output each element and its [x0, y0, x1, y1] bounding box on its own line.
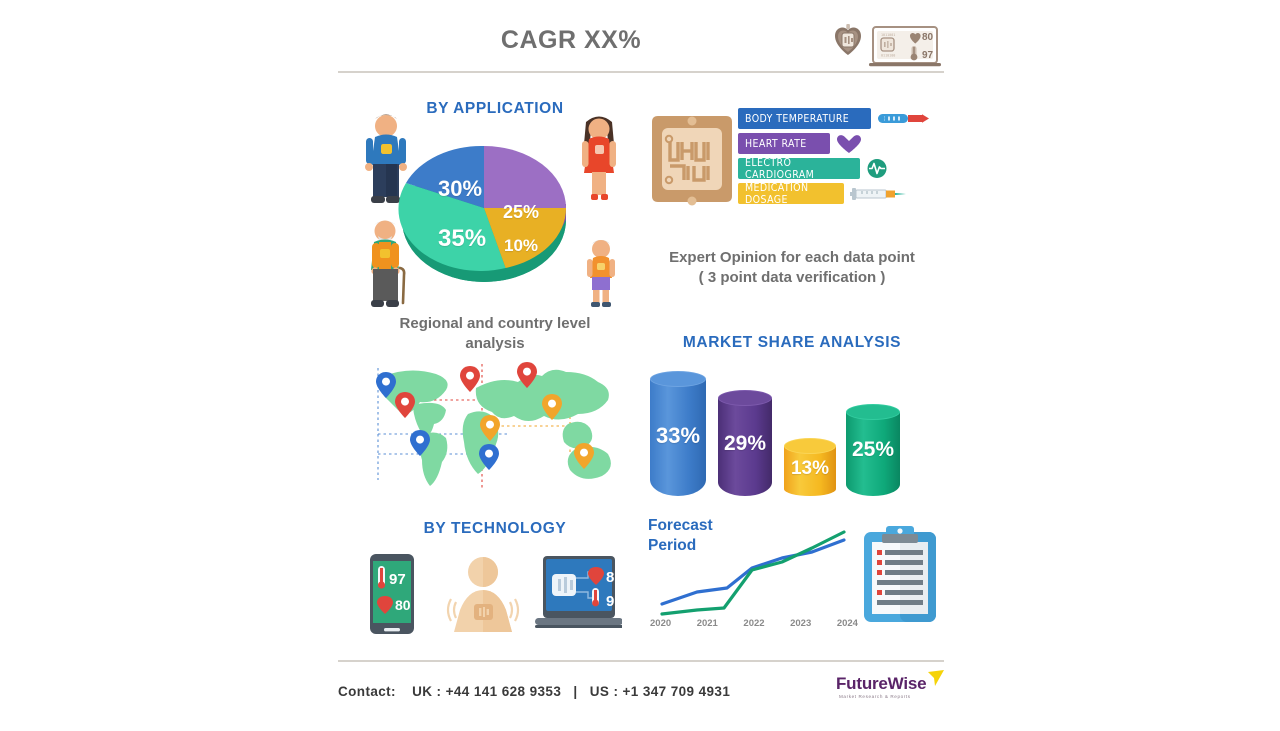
cylinder-bar-3: 13%	[784, 438, 836, 496]
market-share-cylinders: 33% 29% 13% 25%	[644, 364, 940, 496]
parameter-bar-heart-rate: HEART RATE	[738, 133, 830, 154]
contact-line: Contact: UK : +44 141 628 9353 | US : +1…	[338, 684, 730, 699]
forecast-line-chart	[652, 526, 852, 624]
footer-divider	[338, 660, 944, 662]
forecast-year-2020: 2020	[650, 618, 671, 629]
regional-title-line-2: analysis	[360, 334, 630, 354]
header-temp-value: 97	[922, 50, 934, 61]
section-forecast: Forecast Period 2020 2021 2022 2023 2024	[642, 508, 942, 648]
application-pie-chart: 30% 25% 10% 35%	[398, 120, 576, 300]
footer: Contact: UK : +44 141 628 9353 | US : +1…	[336, 660, 946, 720]
parameter-bar-body-temperature: BODY TEMPERATURE	[738, 108, 871, 129]
heart-icon	[836, 133, 862, 154]
parameter-list: BODY TEMPERATURE HEART RATE ELECTRO CARD…	[738, 108, 942, 210]
body-sensor-patch-icon	[448, 557, 518, 632]
forecast-series-1-line	[662, 540, 844, 604]
phone-temp-value: 97	[389, 571, 406, 588]
section-sensor-parameters: BODY TEMPERATURE HEART RATE ELECTRO CARD…	[642, 88, 942, 228]
smartphone-vitals-icon: 97 80	[370, 554, 414, 634]
header-icon-group: 1011001 0110100 80 97	[826, 20, 946, 72]
futurewise-logo[interactable]: FutureWise Market Research & Reports	[836, 672, 944, 708]
pie-label-30: 30%	[438, 176, 482, 202]
sensor-chip-icon	[648, 110, 736, 208]
expert-opinion-line-1: Expert Opinion for each data point	[642, 248, 942, 268]
cylinder-value-1: 33%	[650, 423, 706, 449]
adult-woman-figure	[576, 112, 622, 210]
pie-label-35: 35%	[438, 225, 486, 253]
cylinder-value-3: 13%	[784, 458, 836, 480]
forecast-year-2022: 2022	[743, 618, 764, 629]
infographic-page: CAGR XX% 1011001 0110100	[0, 0, 1280, 731]
contact-label: Contact:	[338, 684, 396, 699]
laptop-vitals-icon: 1011001 0110100 80 97	[869, 27, 941, 66]
market-share-title: MARKET SHARE ANALYSIS	[642, 334, 942, 352]
header: CAGR XX% 1011001 0110100	[336, 18, 946, 76]
section-market-share: MARKET SHARE ANALYSIS 33% 29% 13% 25%	[642, 306, 942, 506]
parameter-row-medication-dosage: MEDICATION DOSAGE	[738, 183, 942, 204]
svg-text:0110100: 0110100	[881, 54, 895, 58]
expert-opinion-text: Expert Opinion for each data point ( 3 p…	[642, 248, 942, 294]
forecast-series-2-line	[662, 532, 844, 614]
cylinder-bar-1: 33%	[650, 371, 706, 496]
section-regional-analysis: Regional and country level analysis	[350, 306, 640, 506]
laptop-temp-value: 97	[606, 593, 622, 610]
parameter-row-body-temperature: BODY TEMPERATURE	[738, 108, 942, 129]
parameter-row-electro-cardiogram: ELECTRO CARDIOGRAM	[738, 158, 942, 179]
clipboard-checklist-icon	[862, 524, 938, 624]
regional-title: Regional and country level analysis	[360, 314, 630, 354]
world-map	[372, 358, 620, 498]
cylinder-value-4: 25%	[846, 438, 900, 462]
forecast-year-2023: 2023	[790, 618, 811, 629]
svg-text:1011001: 1011001	[881, 33, 895, 37]
cylinder-bar-2: 29%	[718, 390, 772, 496]
expert-opinion-line-2: ( 3 point data verification )	[642, 268, 942, 288]
laptop-heart-value: 80	[606, 569, 622, 586]
forecast-year-axis: 2020 2021 2022 2023 2024	[650, 618, 858, 629]
pie-slice-25	[484, 146, 566, 208]
ecg-pulse-icon	[866, 158, 890, 179]
child-figure	[582, 236, 620, 310]
syringe-icon	[850, 183, 910, 204]
contact-us: US : +1 347 709 4931	[590, 684, 730, 699]
parameter-row-heart-rate: HEART RATE	[738, 133, 942, 154]
infographic-sheet: CAGR XX% 1011001 0110100	[336, 0, 946, 731]
logo-name: FutureWise	[836, 674, 926, 694]
logo-tagline: Market Research & Reports	[839, 694, 911, 699]
pie-label-10: 10%	[504, 236, 538, 256]
header-divider	[338, 71, 944, 73]
cylinder-bar-4: 25%	[846, 404, 900, 496]
forecast-year-2024: 2024	[837, 618, 858, 629]
pie-label-25: 25%	[503, 202, 539, 223]
cylinder-value-2: 29%	[718, 432, 772, 456]
parameter-bar-electro-cardiogram: ELECTRO CARDIOGRAM	[738, 158, 860, 179]
thermometer-icon	[878, 108, 930, 129]
contact-separator: |	[573, 684, 577, 699]
section-by-application: BY APPLICATION	[350, 88, 640, 313]
parameter-bar-medication-dosage: MEDICATION DOSAGE	[738, 183, 844, 204]
logo-arrow-icon	[926, 670, 946, 690]
laptop-vitals-icon-2: 80 97	[535, 556, 622, 628]
heart-sensor-icon	[835, 24, 861, 55]
contact-uk: UK : +44 141 628 9353	[412, 684, 561, 699]
header-heart-value: 80	[922, 32, 934, 43]
section-by-technology: BY TECHNOLOGY 97 80	[350, 508, 640, 648]
by-technology-title: BY TECHNOLOGY	[350, 520, 640, 538]
forecast-year-2021: 2021	[697, 618, 718, 629]
phone-heart-value: 80	[395, 597, 411, 613]
page-title: CAGR XX%	[336, 26, 806, 55]
regional-title-line-1: Regional and country level	[360, 314, 630, 334]
technology-icon-group: 97 80	[368, 552, 622, 638]
